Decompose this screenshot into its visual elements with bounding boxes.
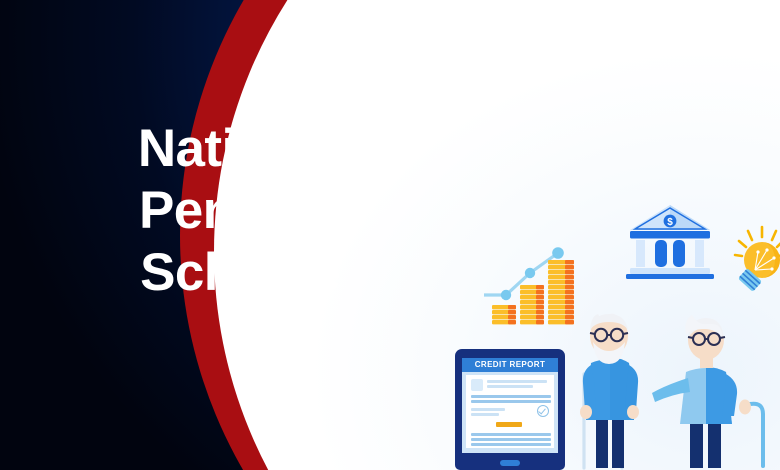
report-line xyxy=(487,380,547,383)
report-line xyxy=(471,443,551,446)
report-line xyxy=(471,395,551,398)
bank-building-icon: $ xyxy=(626,202,714,282)
elderly-woman xyxy=(652,315,763,468)
report-line xyxy=(471,438,551,441)
credit-report-tablet: CREDIT REPORT xyxy=(455,349,565,470)
report-line xyxy=(471,408,505,411)
credit-report-page xyxy=(466,375,554,448)
report-line xyxy=(471,433,551,436)
credit-report-title: CREDIT REPORT xyxy=(462,358,558,372)
title-line-2: Pension xyxy=(60,180,420,242)
elderly-man xyxy=(580,314,639,468)
banner-title: National Pension Scheme xyxy=(60,118,420,304)
small-coin-stack xyxy=(492,305,516,324)
title-line-3: Scheme xyxy=(60,242,420,304)
coin-stacks-growth-chart-icon xyxy=(484,243,584,328)
report-avatar-block xyxy=(471,379,483,391)
report-line xyxy=(487,385,533,388)
report-approved-check-icon xyxy=(537,405,549,417)
report-line xyxy=(471,400,551,403)
report-line xyxy=(471,413,499,416)
report-highlight-bar xyxy=(496,422,522,427)
title-line-1: National xyxy=(60,118,420,180)
svg-text:$: $ xyxy=(667,217,673,228)
lightbulb-idea-icon xyxy=(722,222,780,298)
tall-coin-stack xyxy=(548,260,574,324)
tablet-home-button[interactable] xyxy=(500,460,520,466)
national-pension-scheme-banner: National Pension Scheme xyxy=(0,0,780,470)
tablet-screen: CREDIT REPORT xyxy=(462,358,558,453)
elderly-couple-illustration xyxy=(578,308,780,470)
medium-coin-stack xyxy=(520,285,544,324)
walking-cane xyxy=(750,404,763,466)
